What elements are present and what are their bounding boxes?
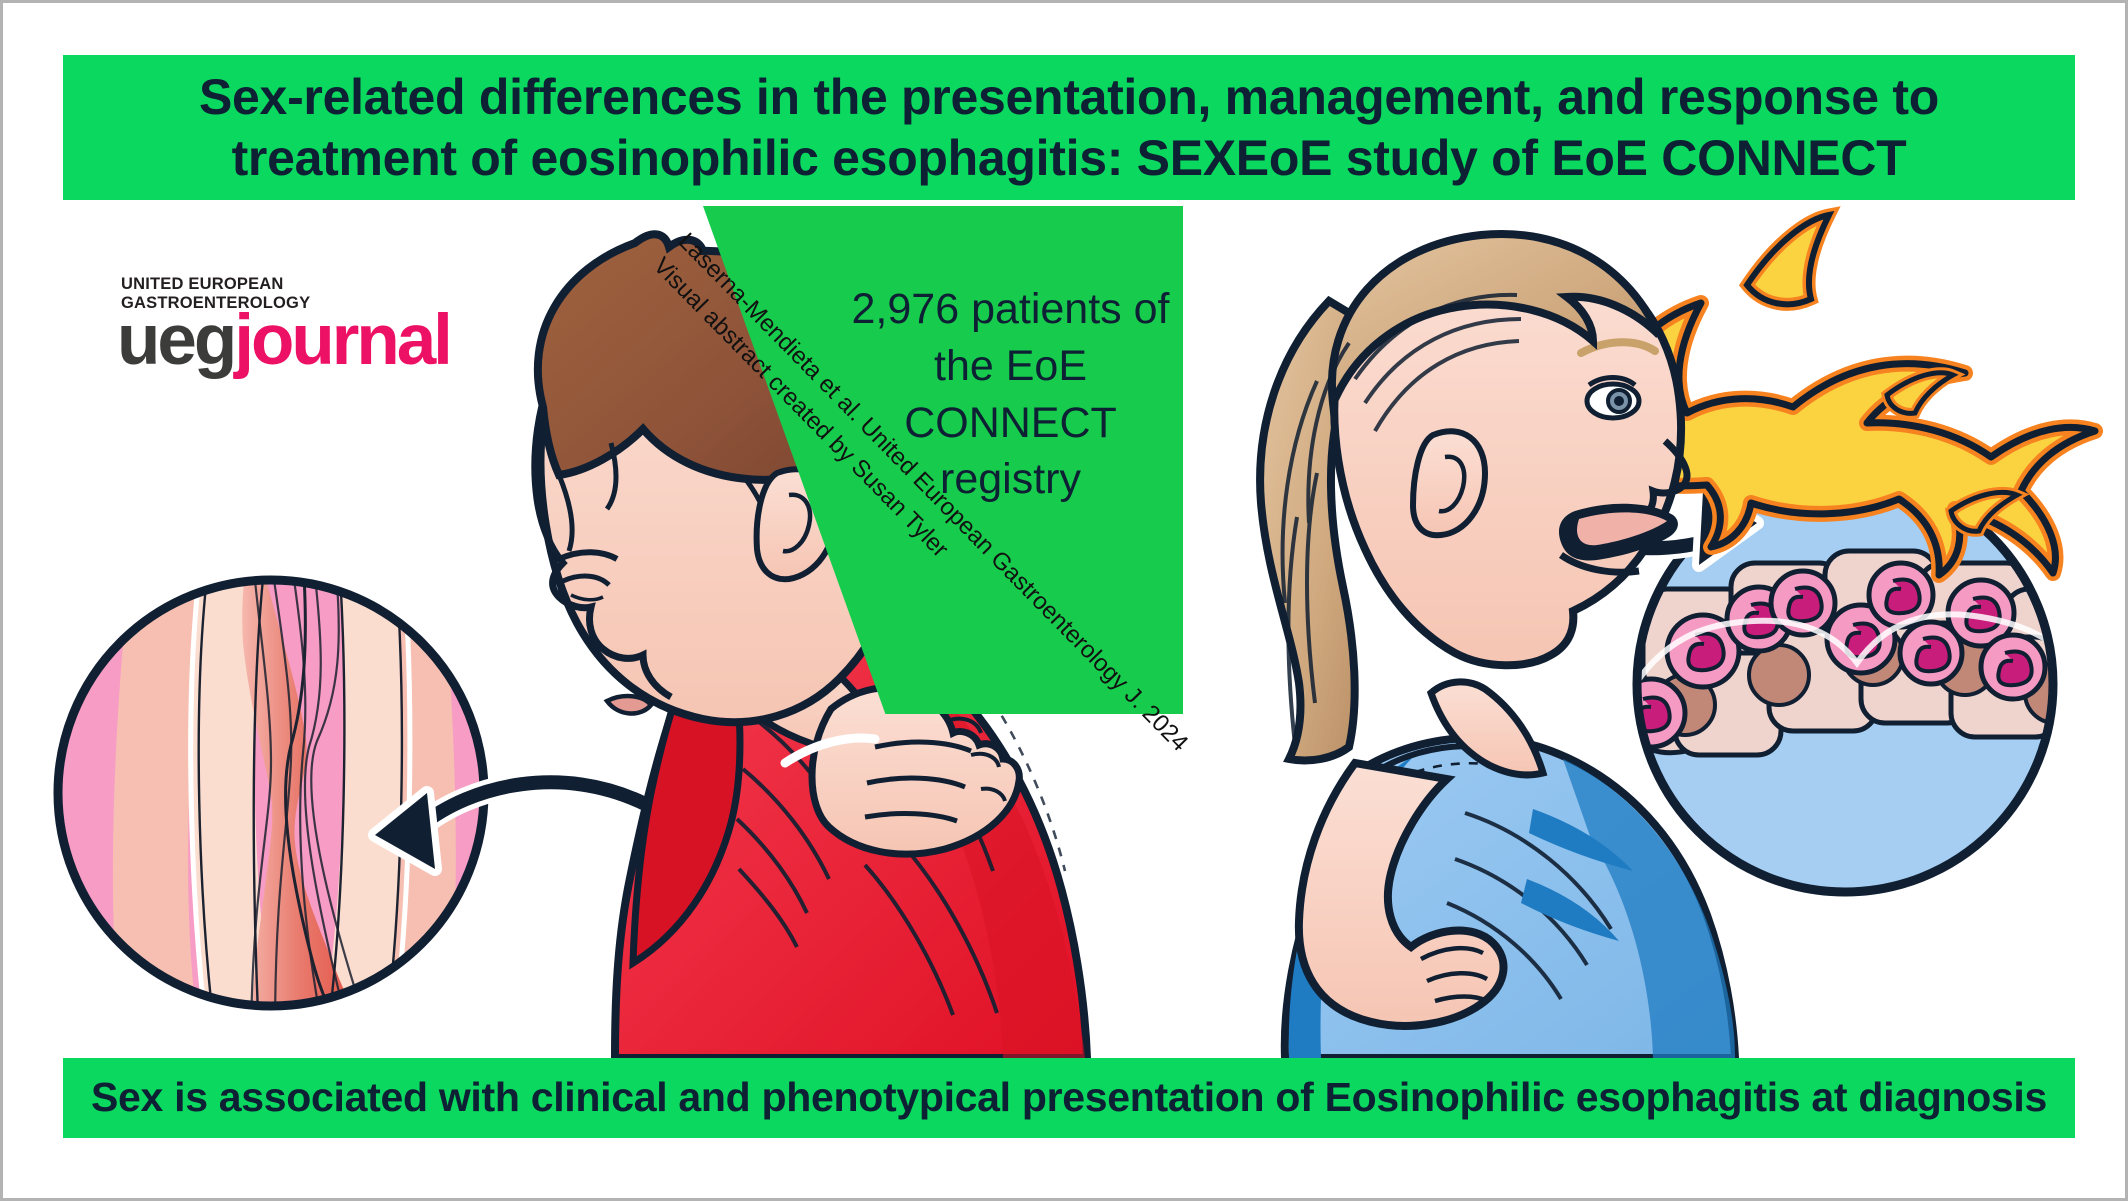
visual-abstract-frame: Sex-related differences in the presentat… (0, 0, 2128, 1201)
conclusion-banner: Sex is associated with clinical and phen… (63, 1058, 2075, 1138)
logo-wordmark: uegjournal (117, 305, 450, 376)
ueg-journal-logo: UNITED EUROPEAN GASTROENTEROLOGY uegjour… (121, 275, 471, 373)
arrow-left (375, 782, 643, 869)
logo-journal-text: journal (234, 301, 450, 380)
page-title: Sex-related differences in the presentat… (89, 67, 2049, 189)
logo-org-line-1: UNITED EUROPEAN (121, 275, 310, 294)
logo-ueg-text: ueg (117, 301, 234, 380)
conclusion-text: Sex is associated with clinical and phen… (91, 1075, 2047, 1120)
title-banner: Sex-related differences in the presentat… (63, 55, 2075, 200)
